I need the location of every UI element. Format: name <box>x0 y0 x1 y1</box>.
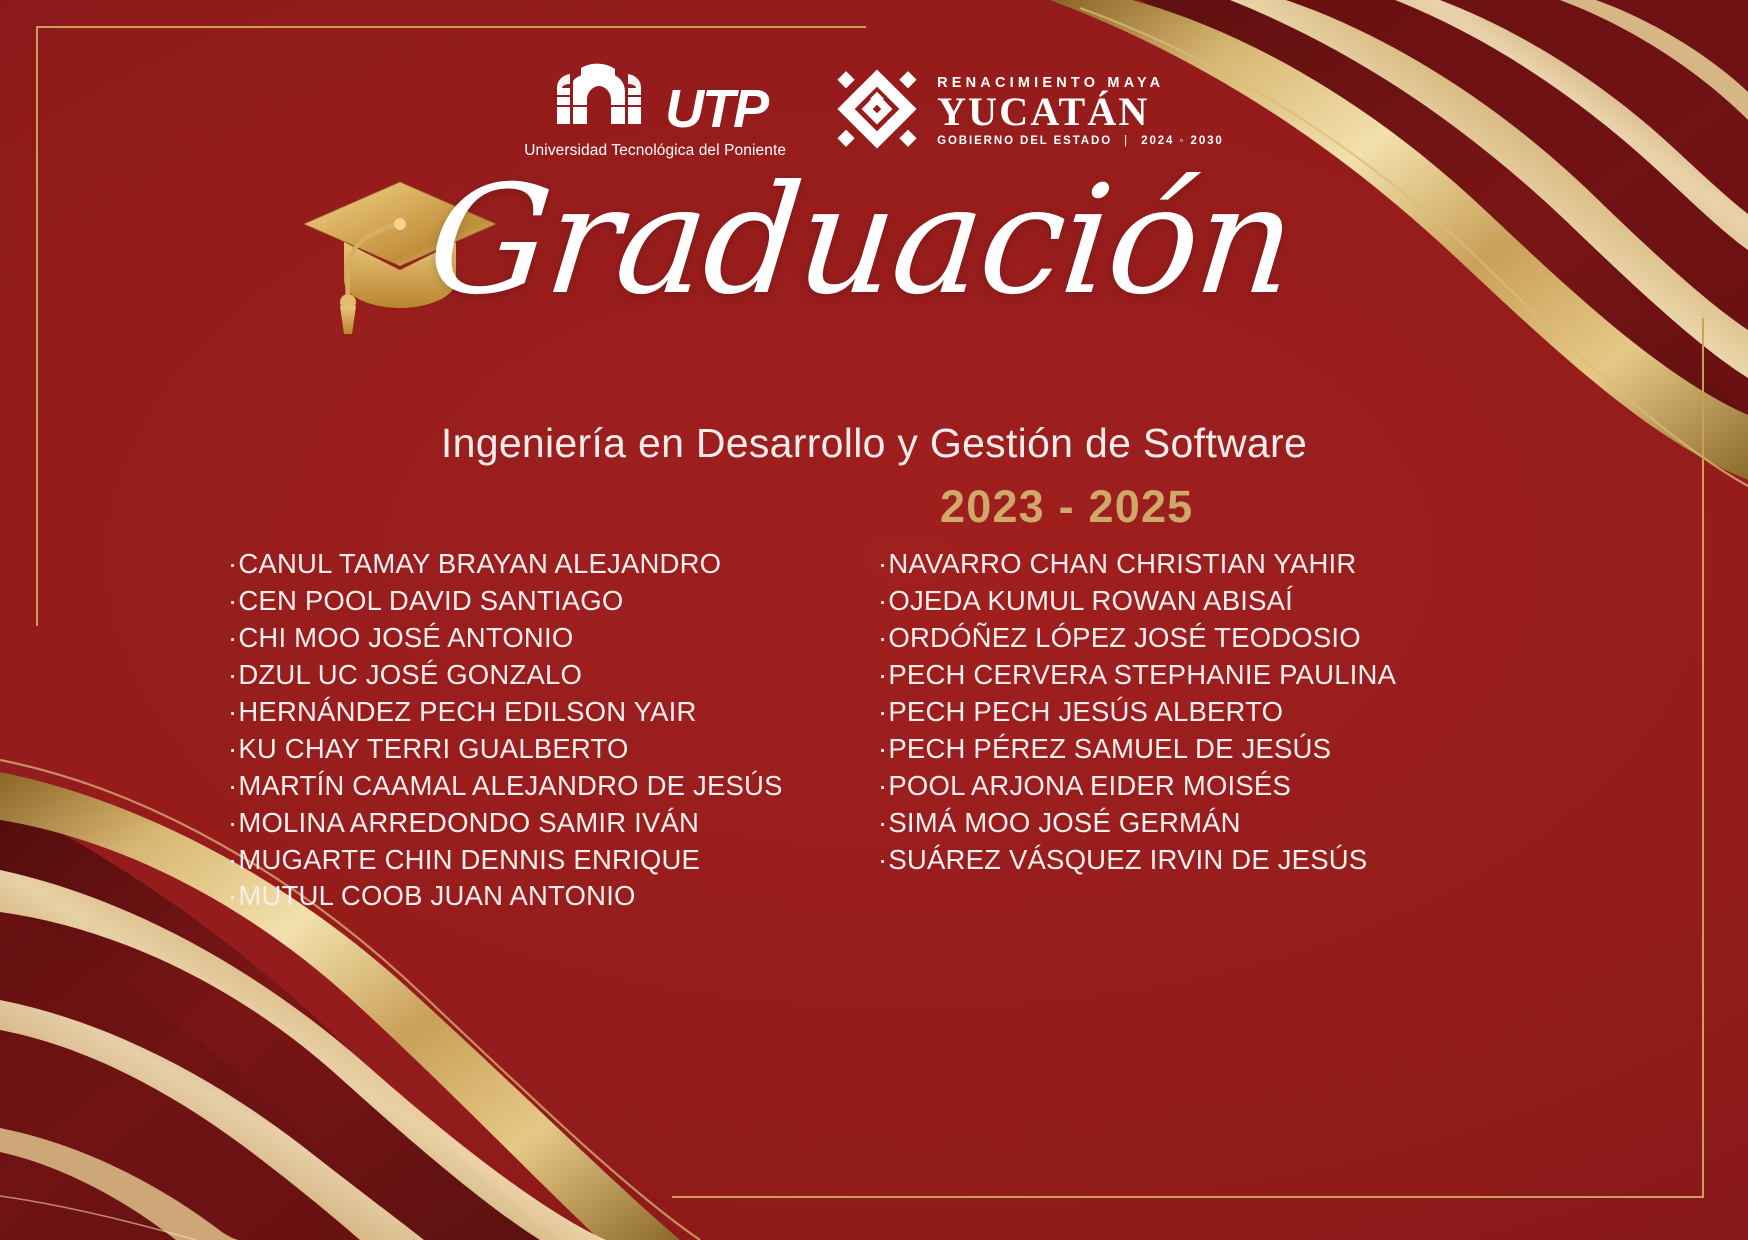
yucatan-separator: | <box>1124 135 1129 147</box>
yucatan-logo: RENACIMIENTO MAYA YUCATÁN GOBIERNO DEL E… <box>834 66 1224 157</box>
graduate-name-text: PECH PÉREZ SAMUEL DE JESÚS <box>888 733 1331 764</box>
graduate-name-text: POOL ARJONA EIDER MOISÉS <box>888 770 1291 801</box>
frame-line-top-left <box>36 26 866 28</box>
graduate-name-text: ORDÓÑEZ LÓPEZ JOSÉ TEODOSIO <box>888 622 1360 653</box>
graduates-list: ·CANUL TAMAY BRAYAN ALEJANDRO·CEN POOL D… <box>228 548 1528 917</box>
graduate-name: ·PECH PECH JESÚS ALBERTO <box>878 696 1528 728</box>
graduate-name: ·PECH PÉREZ SAMUEL DE JESÚS <box>878 733 1528 765</box>
title-block: Graduación 2023 - 2025 <box>0 176 1748 386</box>
yucatan-term-years: 2024 ◦ 2030 <box>1141 135 1224 147</box>
bullet-marker: · <box>878 844 887 875</box>
graduate-name-text: PECH PECH JESÚS ALBERTO <box>888 696 1283 727</box>
bullet-marker: · <box>878 696 887 727</box>
graduate-name-text: PECH CERVERA STEPHANIE PAULINA <box>888 659 1396 690</box>
frame-line-bottom-right <box>672 1196 1702 1198</box>
graduation-poster: UTP Universidad Tecnológica del Poniente <box>0 0 1748 1240</box>
bullet-marker: · <box>878 659 887 690</box>
graduate-name-text: OJEDA KUMUL ROWAN ABISAÍ <box>888 585 1293 616</box>
graduates-column-right: ·NAVARRO CHAN CHRISTIAN YAHIR·OJEDA KUMU… <box>234 548 1528 917</box>
logo-row: UTP Universidad Tecnológica del Poniente <box>0 62 1748 160</box>
graduate-name: ·OJEDA KUMUL ROWAN ABISAÍ <box>878 585 1528 617</box>
graduate-name-text: SUÁREZ VÁSQUEZ IRVIN DE JESÚS <box>888 844 1367 875</box>
graduate-name-text: NAVARRO CHAN CHRISTIAN YAHIR <box>888 548 1356 579</box>
maya-glyph-icon <box>834 66 920 157</box>
graduate-name: ·SIMÁ MOO JOSÉ GERMÁN <box>878 807 1528 839</box>
program-name: Ingeniería en Desarrollo y Gestión de So… <box>0 420 1748 467</box>
graduation-title: Graduación <box>422 166 1338 316</box>
utp-logo: UTP Universidad Tecnológica del Poniente <box>524 62 786 160</box>
yucatan-government-line: GOBIERNO DEL ESTADO | 2024 ◦ 2030 <box>937 135 1224 147</box>
bullet-marker: · <box>878 585 887 616</box>
utp-acronym: UTP <box>665 85 767 135</box>
graduate-name: ·PECH CERVERA STEPHANIE PAULINA <box>878 659 1528 691</box>
graduate-name: ·NAVARRO CHAN CHRISTIAN YAHIR <box>878 548 1528 580</box>
bullet-marker: · <box>878 733 887 764</box>
graduation-years: 2023 - 2025 <box>940 481 1193 533</box>
bullet-marker: · <box>878 622 887 653</box>
yucatan-wordmark: YUCATÁN <box>937 92 1149 132</box>
graduate-name: ·POOL ARJONA EIDER MOISÉS <box>878 770 1528 802</box>
bullet-marker: · <box>878 807 887 838</box>
graduate-name: ·ORDÓÑEZ LÓPEZ JOSÉ TEODOSIO <box>878 622 1528 654</box>
utp-arch-logo-icon <box>543 62 655 135</box>
bullet-marker: · <box>878 548 887 579</box>
bullet-marker: · <box>878 770 887 801</box>
graduate-name-text: SIMÁ MOO JOSÉ GERMÁN <box>888 807 1240 838</box>
graduate-name: ·SUÁREZ VÁSQUEZ IRVIN DE JESÚS <box>878 844 1528 876</box>
yucatan-gov-text: GOBIERNO DEL ESTADO <box>937 135 1112 147</box>
